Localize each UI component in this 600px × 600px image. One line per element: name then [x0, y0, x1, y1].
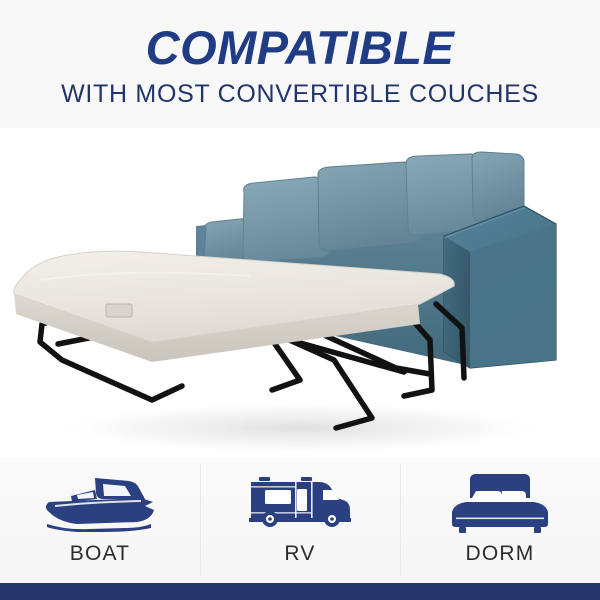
- bed-icon: [446, 470, 554, 536]
- rv-icon: [245, 470, 355, 536]
- frame-clip: [106, 304, 132, 317]
- floor-shadow: [50, 402, 550, 454]
- feature-label-dorm: DORM: [466, 542, 535, 566]
- compatibility-feature-row: BOAT: [0, 458, 600, 583]
- feature-item-rv: RV: [200, 458, 400, 583]
- feature-item-dorm: DORM: [400, 458, 600, 583]
- header: COMPATIBLE WITH MOST CONVERTIBLE COUCHES: [0, 0, 600, 128]
- feature-item-boat: BOAT: [0, 458, 200, 583]
- sleeper-sofa-illustration: [0, 128, 600, 458]
- feature-label-rv: RV: [284, 542, 315, 566]
- hero-image: [0, 128, 600, 458]
- feature-label-boat: BOAT: [70, 542, 130, 566]
- page-subtitle: WITH MOST CONVERTIBLE COUCHES: [0, 79, 600, 109]
- bottom-accent-bar: [0, 583, 600, 600]
- page-title: COMPATIBLE: [0, 21, 600, 75]
- product-feature-graphic: COMPATIBLE WITH MOST CONVERTIBLE COUCHES: [0, 0, 600, 600]
- boat-icon: [41, 470, 159, 536]
